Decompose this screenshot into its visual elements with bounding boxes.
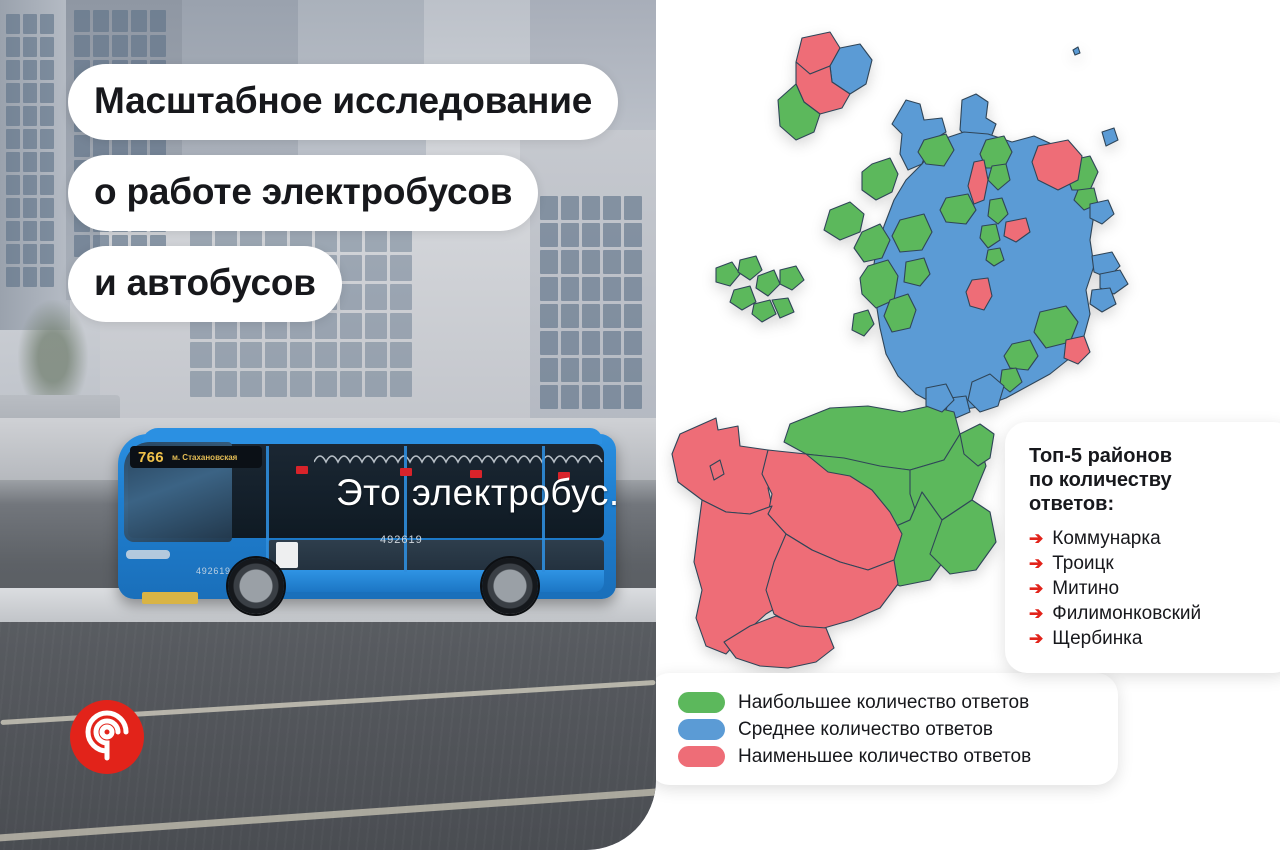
bus-lower-panel — [268, 540, 604, 574]
hero-photo-panel: 766 м. Стахановская Это электробус. 4926… — [0, 0, 656, 850]
moscow-coat-of-arms — [276, 542, 298, 568]
bus-route-number: 766 — [138, 449, 164, 466]
region-island-3 — [756, 270, 780, 296]
bus-wheel-front — [228, 558, 284, 614]
bus-route-sign: 766 м. Стахановская — [130, 446, 262, 468]
top5-item-label: Коммунарка — [1052, 526, 1160, 551]
title-line-1: Масштабное исследование — [68, 64, 618, 140]
legend-swatch-highest — [678, 692, 725, 713]
list-item: ➔ Троицк — [1029, 551, 1275, 576]
top5-districts-card: Топ-5 районов по количеству ответов: ➔ К… — [1005, 422, 1280, 673]
stop-request-indicator-1 — [296, 466, 308, 474]
arrow-right-icon: ➔ — [1029, 580, 1043, 597]
electrobus: 766 м. Стахановская Это электробус. 4926… — [118, 424, 616, 614]
top5-item-label: Троицк — [1052, 551, 1113, 576]
region-inner-red-se — [1064, 336, 1090, 364]
region-west-green-6 — [852, 310, 874, 336]
bus-fleet-number-side: 492619 — [380, 534, 423, 546]
region-island-1 — [716, 262, 740, 286]
bus-wheel-rear — [482, 558, 538, 614]
region-west-green-2 — [824, 202, 864, 240]
bus-roof-pattern — [314, 446, 604, 468]
legend-row-medium: Среднее количество ответов — [678, 716, 1100, 743]
legend-row-lowest: Наименьшее количество ответов — [678, 743, 1100, 770]
legend-row-highest: Наибольшее количество ответов — [678, 689, 1100, 716]
region-troitsky-nw — [672, 418, 778, 514]
bus-headlight — [126, 550, 170, 559]
infographic-canvas: Наибольшее количество ответов Среднее ко… — [0, 0, 1280, 850]
legend-label-lowest: Наименьшее количество ответов — [738, 746, 1031, 768]
bus-skirt — [268, 570, 604, 592]
list-item: ➔ Коммунарка — [1029, 526, 1275, 551]
arrow-right-icon: ➔ — [1029, 555, 1043, 572]
region-east-lobe-1 — [1090, 200, 1114, 224]
region-island-6 — [780, 266, 804, 290]
title-line-1-row: Масштабное исследование — [68, 64, 618, 140]
bus-slogan-text: Это электробус. — [336, 472, 620, 514]
list-item: ➔ Филимонковский — [1029, 601, 1275, 626]
region-speck — [1073, 47, 1080, 55]
legend-card: Наибольшее количество ответов Среднее ко… — [648, 673, 1118, 785]
window-grid-left — [6, 14, 54, 287]
bus-licence-plate — [142, 592, 198, 604]
top5-item-label: Щербинка — [1052, 626, 1142, 651]
page-title: Масштабное исследование о работе электро… — [68, 64, 618, 322]
top5-title: Топ-5 районов по количеству ответов: — [1029, 444, 1275, 516]
title-line-2-row: о работе электробусов — [68, 155, 618, 231]
list-item: ➔ Щербинка — [1029, 626, 1275, 651]
region-island-5 — [752, 300, 776, 322]
arrow-right-icon: ➔ — [1029, 530, 1043, 547]
region-west-green-1 — [862, 158, 898, 200]
arrow-right-icon: ➔ — [1029, 605, 1043, 622]
bus-door-1 — [266, 446, 269, 572]
legend-label-highest: Наибольшее количество ответов — [738, 692, 1029, 714]
moscow-transport-logo — [70, 700, 144, 774]
bus-fleet-number-front: 492619 — [196, 566, 231, 576]
legend-swatch-medium — [678, 719, 725, 740]
top5-item-label: Филимонковский — [1052, 601, 1201, 626]
region-east-lobe-5 — [1102, 128, 1118, 146]
top5-item-label: Митино — [1052, 576, 1119, 601]
title-line-2: о работе электробусов — [68, 155, 538, 231]
legend-swatch-lowest — [678, 746, 725, 767]
arrow-right-icon: ➔ — [1029, 630, 1043, 647]
bus-destination: м. Стахановская — [172, 453, 237, 462]
title-line-3-row: и автобусов — [68, 246, 618, 322]
top5-list: ➔ Коммунарка ➔ Троицк ➔ Митино ➔ Филимон… — [1029, 526, 1275, 651]
list-item: ➔ Митино — [1029, 576, 1275, 601]
title-line-3: и автобусов — [68, 246, 342, 322]
region-island-4 — [730, 286, 756, 310]
legend-label-medium: Среднее количество ответов — [738, 719, 993, 741]
